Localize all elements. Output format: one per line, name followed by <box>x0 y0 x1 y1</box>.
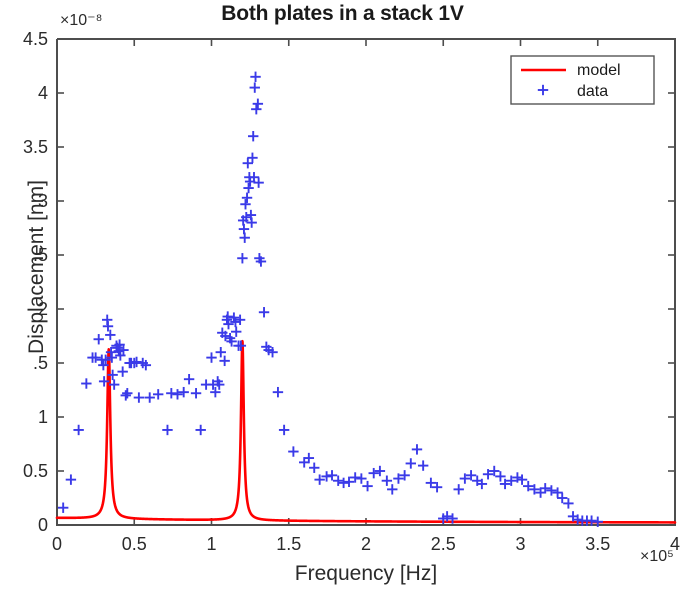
y-tick-label: 4.5 <box>23 29 48 49</box>
data-point <box>166 388 176 398</box>
plot-canvas: 00.511.522.533.54 00.51.52.533.544.5 mod… <box>0 0 685 592</box>
data-point <box>122 388 132 398</box>
y-tick-label: 2 <box>38 299 48 319</box>
data-point <box>495 471 505 481</box>
axes <box>57 39 675 525</box>
y-tick-label: 0 <box>38 515 48 535</box>
x-tick-label: 1.5 <box>276 534 301 554</box>
data-point <box>557 493 567 503</box>
legend-model-label: model <box>577 62 621 79</box>
data-point <box>251 104 261 114</box>
y-tick-label: 3.5 <box>23 137 48 157</box>
data-point <box>546 485 556 495</box>
axis-frame <box>57 39 675 525</box>
y-tick-label: 1 <box>38 407 48 427</box>
x-tick-label: 1 <box>206 534 216 554</box>
y-tick-label: .5 <box>33 353 48 373</box>
x-tick-label: 3 <box>515 534 525 554</box>
data-point <box>247 153 257 163</box>
data-point <box>242 193 252 203</box>
data-point <box>250 72 260 82</box>
x-tick-label: 0 <box>52 534 62 554</box>
y-tick-label: .5 <box>33 245 48 265</box>
data-point <box>418 460 428 470</box>
data-point <box>563 498 573 508</box>
data-point <box>327 470 337 480</box>
data-point <box>243 183 253 193</box>
data-point <box>58 503 68 513</box>
chart-figure: Both plates in a stack 1V ×10⁻⁸ ×10⁵ Dis… <box>0 0 685 592</box>
data-point <box>362 481 372 491</box>
data-point <box>412 444 422 454</box>
y-tick-label: 0.5 <box>23 461 48 481</box>
data-point <box>121 390 131 400</box>
data-point <box>253 177 263 187</box>
data-point <box>191 388 201 398</box>
series-data <box>58 72 603 527</box>
data-point <box>162 425 172 435</box>
data-point <box>309 463 319 473</box>
y-axis-ticks: 00.51.52.533.544.5 <box>23 29 675 535</box>
data-point <box>369 468 379 478</box>
data-point <box>103 321 113 331</box>
data-point <box>253 99 263 109</box>
data-point <box>94 334 104 344</box>
data-point <box>206 352 216 362</box>
data-point <box>178 387 188 397</box>
x-tick-label: 4 <box>670 534 680 554</box>
data-point <box>134 392 144 402</box>
data-point <box>552 487 562 497</box>
data-point <box>243 158 253 168</box>
data-point <box>235 315 245 325</box>
data-point <box>81 378 91 388</box>
x-tick-label: 3.5 <box>585 534 610 554</box>
data-point <box>406 458 416 468</box>
data-point <box>66 474 76 484</box>
data-point <box>375 466 385 476</box>
data-point <box>248 131 258 141</box>
data-point <box>240 199 250 209</box>
model-line <box>57 341 675 522</box>
data-point <box>288 446 298 456</box>
data-point <box>184 374 194 384</box>
data-point <box>250 82 260 92</box>
data-point <box>279 425 289 435</box>
data-point <box>273 387 283 397</box>
data-point <box>387 484 397 494</box>
data-point <box>131 357 141 367</box>
series-model <box>57 341 675 522</box>
data-point <box>517 474 527 484</box>
x-tick-label: 2.5 <box>431 534 456 554</box>
data-point <box>333 476 343 486</box>
data-point <box>236 341 246 351</box>
data-point <box>237 253 247 263</box>
data-point <box>231 326 241 336</box>
data-point <box>117 366 127 376</box>
legend[interactable]: modeldata <box>511 56 654 104</box>
data-point <box>356 473 366 483</box>
data-point <box>172 389 182 399</box>
data-point <box>105 330 115 340</box>
x-tick-label: 2 <box>361 534 371 554</box>
data-point <box>195 425 205 435</box>
y-tick-label: 4 <box>38 83 48 103</box>
data-point <box>240 233 250 243</box>
data-point <box>338 478 348 488</box>
data-point <box>73 425 83 435</box>
y-tick-label: 3 <box>38 191 48 211</box>
legend-data-label: data <box>577 83 608 100</box>
x-tick-label: 0.5 <box>122 534 147 554</box>
x-axis-ticks: 00.511.522.533.54 <box>52 39 680 554</box>
data-point <box>246 217 256 227</box>
data-point <box>259 307 269 317</box>
data-point <box>382 476 392 486</box>
data-point <box>454 484 464 494</box>
